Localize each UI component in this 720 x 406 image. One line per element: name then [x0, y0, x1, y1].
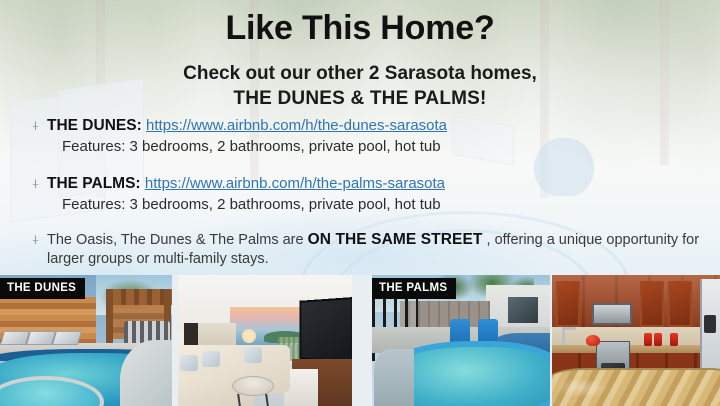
pool-coping: [374, 349, 414, 406]
palm-tree-icon: ⍭: [28, 176, 43, 191]
red-kettle: [586, 335, 600, 346]
red-canister: [654, 333, 662, 346]
cabinet-door: [556, 281, 580, 327]
red-canister: [644, 333, 652, 346]
house-window: [508, 297, 538, 323]
list-item: ⍭ THE PALMS: https://www.airbnb.com/h/th…: [28, 174, 704, 214]
subtitle-line-1: Check out our other 2 Sarasota homes,: [183, 63, 537, 84]
listing-name: THE PALMS:: [47, 175, 141, 192]
photo-badge-palms: THE PALMS: [372, 278, 456, 299]
listing-features: Features: 3 bedrooms, 2 bathrooms, priva…: [47, 137, 704, 156]
cabinet-door: [668, 281, 692, 327]
photo-strip: THE DUNES: [0, 275, 720, 406]
throw-pillow: [202, 351, 220, 367]
photo-badge-dunes: THE DUNES: [0, 278, 85, 299]
text-content: Like This Home? Check out our other 2 Sa…: [0, 0, 720, 275]
listing-name: THE DUNES:: [47, 117, 142, 134]
red-canister: [670, 333, 678, 346]
note-text-before: The Oasis, The Dunes & The Palms are: [47, 232, 308, 248]
water-dispenser: [704, 315, 716, 333]
living-room-photo[interactable]: [178, 275, 352, 406]
same-street-note: ⍭ The Oasis, The Dunes & The Palms are O…: [28, 230, 702, 269]
kitchen-photo[interactable]: [552, 275, 720, 406]
listing-url-link[interactable]: https://www.airbnb.com/h/the-dunes-saras…: [146, 117, 447, 134]
subtitle: Check out our other 2 Sarasota homes, TH…: [0, 61, 720, 112]
coffee-table-legs: [237, 394, 269, 406]
listing-features: Features: 3 bedrooms, 2 bathrooms, priva…: [47, 195, 704, 214]
photo-gap: [352, 275, 372, 406]
pergola-beams: [108, 289, 172, 305]
dunes-pool-photo[interactable]: THE DUNES: [0, 275, 172, 406]
throw-pillow: [244, 347, 262, 363]
palm-tree-icon: ⍭: [28, 118, 43, 133]
listing-heading: THE DUNES: https://www.airbnb.com/h/the-…: [47, 116, 704, 135]
listing-heading: THE PALMS: https://www.airbnb.com/h/the-…: [47, 174, 704, 193]
throw-pillow: [180, 355, 198, 371]
coffee-table: [232, 376, 274, 396]
listing-url-link[interactable]: https://www.airbnb.com/h/the-palms-saras…: [145, 175, 445, 192]
mural-sun: [242, 329, 256, 343]
wall-tv: [300, 297, 352, 363]
palm-tree-icon: ⍭: [28, 232, 43, 247]
microwave: [592, 303, 632, 325]
list-item: ⍭ THE DUNES: https://www.airbnb.com/h/th…: [28, 116, 704, 156]
lounge-chair: [52, 331, 82, 345]
page-title: Like This Home?: [0, 9, 720, 48]
slide-canvas: Like This Home? Check out our other 2 Sa…: [0, 0, 720, 406]
listings-list: ⍭ THE DUNES: https://www.airbnb.com/h/th…: [28, 116, 704, 214]
granite-island: [552, 368, 720, 406]
palms-pool-photo[interactable]: THE PALMS: [372, 275, 550, 406]
note-emphasis: ON THE SAME STREET: [308, 231, 483, 248]
cabinet-door: [640, 281, 664, 327]
subtitle-line-2: THE DUNES & THE PALMS!: [0, 86, 720, 111]
pergola-post: [106, 289, 113, 351]
sink-faucet: [562, 327, 565, 345]
